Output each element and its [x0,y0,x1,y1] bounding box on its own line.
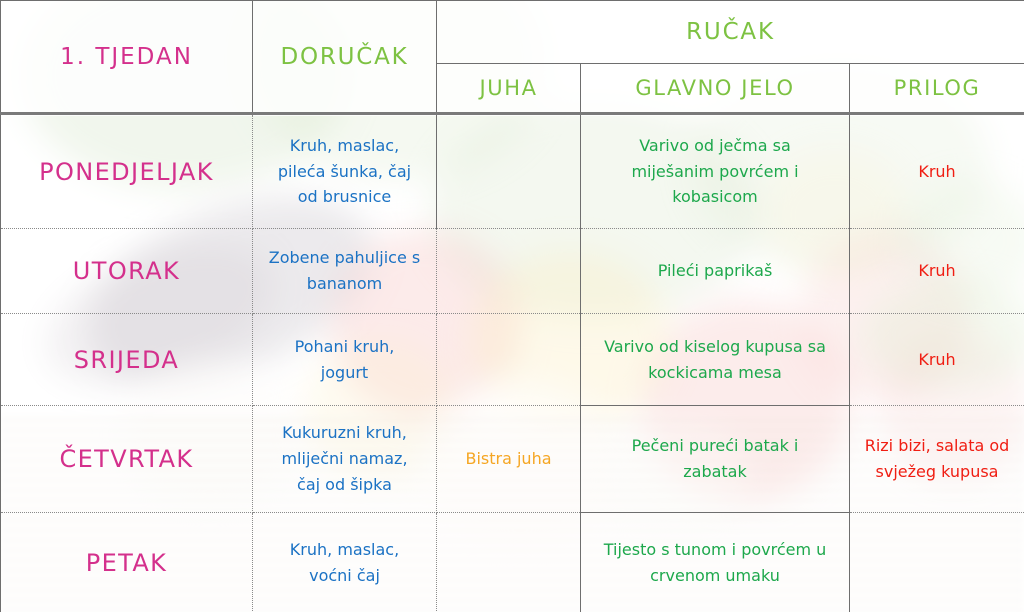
cell-text: Kukuruzni kruh, mliječni namaz, čaj od š… [259,420,430,498]
column-header-main: GLAVNO JELO [581,64,850,114]
main-cell-wednesday: Varivo od kiselog kupusa sa kockicama me… [581,314,850,406]
day-label-friday: PETAK [1,513,253,612]
menu-table: 1. TJEDAN DORUČAK RUČAK JUHA GLAVNO JELO… [0,0,1024,612]
table-row: SRIJEDA Pohani kruh, jogurt Varivo od ki… [1,314,1024,406]
column-header-side: PRILOG [850,64,1024,114]
cell-text: Rizi bizi, salata od svježeg kupusa [856,433,1018,485]
day-label-wednesday: SRIJEDA [1,314,253,406]
cell-text: Kruh [856,258,1018,284]
main-cell-friday: Tijesto s tunom i povrćem u crvenom umak… [581,513,850,612]
weekly-menu-sheet: 1. TJEDAN DORUČAK RUČAK JUHA GLAVNO JELO… [0,0,1024,612]
column-header-breakfast: DORUČAK [253,1,437,114]
column-header-soup: JUHA [437,64,581,114]
side-cell-monday: Kruh [850,114,1024,229]
main-cell-tuesday: Pileći paprikaš [581,229,850,314]
main-cell-thursday: Pečeni pureći batak i zabatak [581,406,850,513]
cell-text: Pohani kruh, jogurt [259,334,430,386]
side-cell-thursday: Rizi bizi, salata od svježeg kupusa [850,406,1024,513]
soup-cell-tuesday [437,229,581,314]
side-cell-friday [850,513,1024,612]
day-label-monday: PONEDJELJAK [1,114,253,229]
header-row-top: 1. TJEDAN DORUČAK RUČAK [1,1,1024,64]
cell-text: Kruh, maslac, voćni čaj [259,537,430,589]
cell-text: Kruh [856,347,1018,373]
cell-text: Zobene pahuljice s bananom [259,245,430,297]
breakfast-cell-monday: Kruh, maslac, pileća šunka, čaj od brusn… [253,114,437,229]
day-label-tuesday: UTORAK [1,229,253,314]
cell-text: Varivo od kiselog kupusa sa kockicama me… [587,334,843,386]
soup-cell-friday [437,513,581,612]
soup-cell-wednesday [437,314,581,406]
cell-text: Varivo od ječma sa miješanim povrćem i k… [587,133,843,211]
table-row: PONEDJELJAK Kruh, maslac, pileća šunka, … [1,114,1024,229]
menu-table-body: PONEDJELJAK Kruh, maslac, pileća šunka, … [1,114,1024,612]
menu-table-head: 1. TJEDAN DORUČAK RUČAK JUHA GLAVNO JELO… [1,1,1024,114]
table-row: UTORAK Zobene pahuljice s bananom Pileći… [1,229,1024,314]
soup-cell-monday [437,114,581,229]
table-row: ČETVRTAK Kukuruzni kruh, mliječni namaz,… [1,406,1024,513]
cell-text: Kruh, maslac, pileća šunka, čaj od brusn… [259,133,430,211]
breakfast-cell-wednesday: Pohani kruh, jogurt [253,314,437,406]
column-header-lunch: RUČAK [437,1,1024,64]
cell-text: Kruh [856,159,1018,185]
cell-text: Pileći paprikaš [587,258,843,284]
breakfast-cell-tuesday: Zobene pahuljice s bananom [253,229,437,314]
week-title-cell: 1. TJEDAN [1,1,253,114]
side-cell-wednesday: Kruh [850,314,1024,406]
cell-text: Bistra juha [443,446,574,472]
main-cell-monday: Varivo od ječma sa miješanim povrćem i k… [581,114,850,229]
table-row: PETAK Kruh, maslac, voćni čaj Tijesto s … [1,513,1024,612]
breakfast-cell-friday: Kruh, maslac, voćni čaj [253,513,437,612]
breakfast-cell-thursday: Kukuruzni kruh, mliječni namaz, čaj od š… [253,406,437,513]
cell-text: Tijesto s tunom i povrćem u crvenom umak… [587,537,843,589]
day-label-thursday: ČETVRTAK [1,406,253,513]
side-cell-tuesday: Kruh [850,229,1024,314]
cell-text: Pečeni pureći batak i zabatak [587,433,843,485]
soup-cell-thursday: Bistra juha [437,406,581,513]
